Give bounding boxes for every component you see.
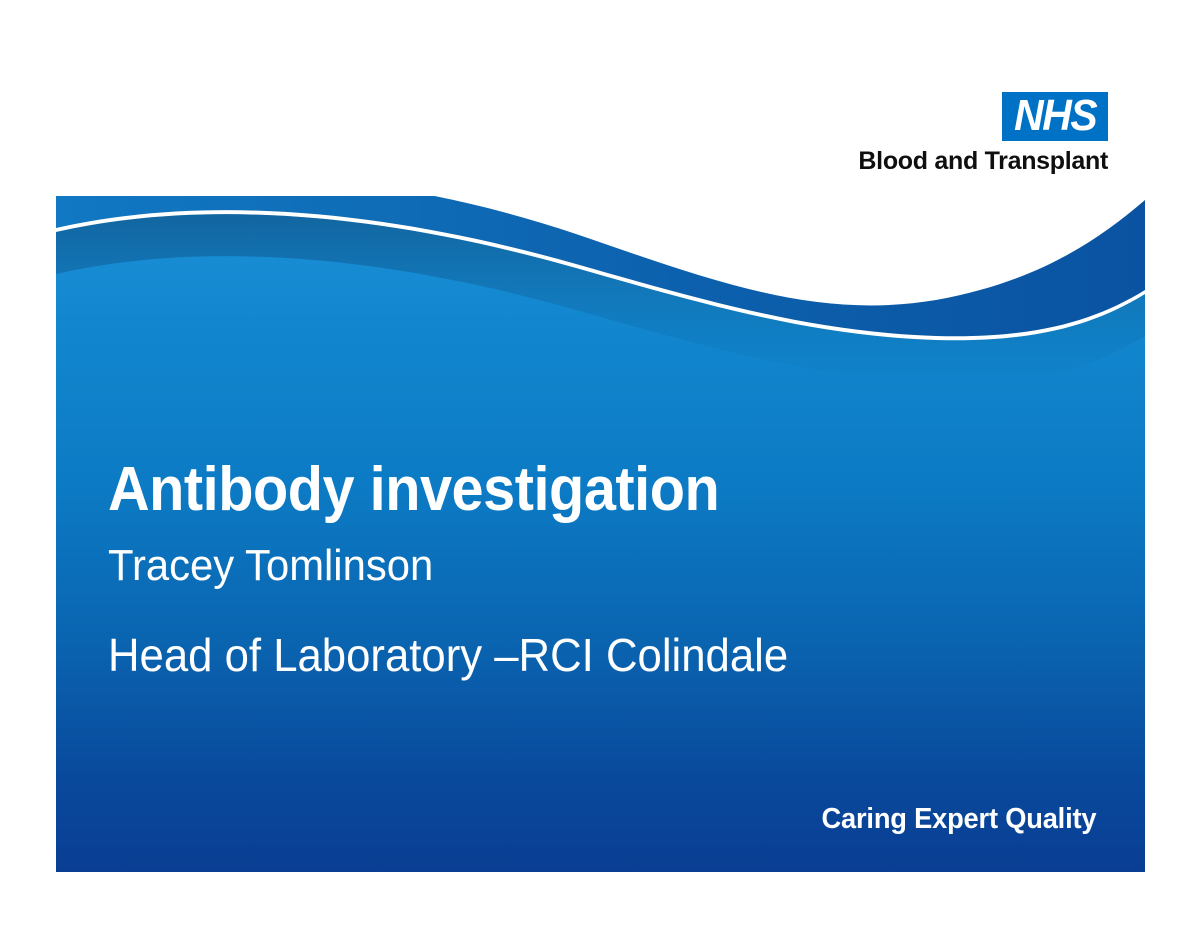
slide-title: Antibody investigation <box>108 459 719 521</box>
slide-canvas: NHS Blood and Transplant <box>0 0 1200 927</box>
nhs-logo-mark-text: NHS <box>1014 95 1096 137</box>
presenter-role: Head of Laboratory –RCI Colindale <box>108 632 788 678</box>
panel-text-group: Antibody investigation Tracey Tomlinson … <box>56 196 1145 872</box>
nhs-logo-strapline: Blood and Transplant <box>808 148 1108 174</box>
nhs-logo-mark: NHS <box>1002 92 1108 141</box>
presenter-name: Tracey Tomlinson <box>108 544 433 588</box>
title-panel: Antibody investigation Tracey Tomlinson … <box>56 196 1145 872</box>
brand-strapline: Caring Expert Quality <box>821 805 1096 834</box>
nhs-logo: NHS Blood and Transplant <box>808 92 1108 174</box>
